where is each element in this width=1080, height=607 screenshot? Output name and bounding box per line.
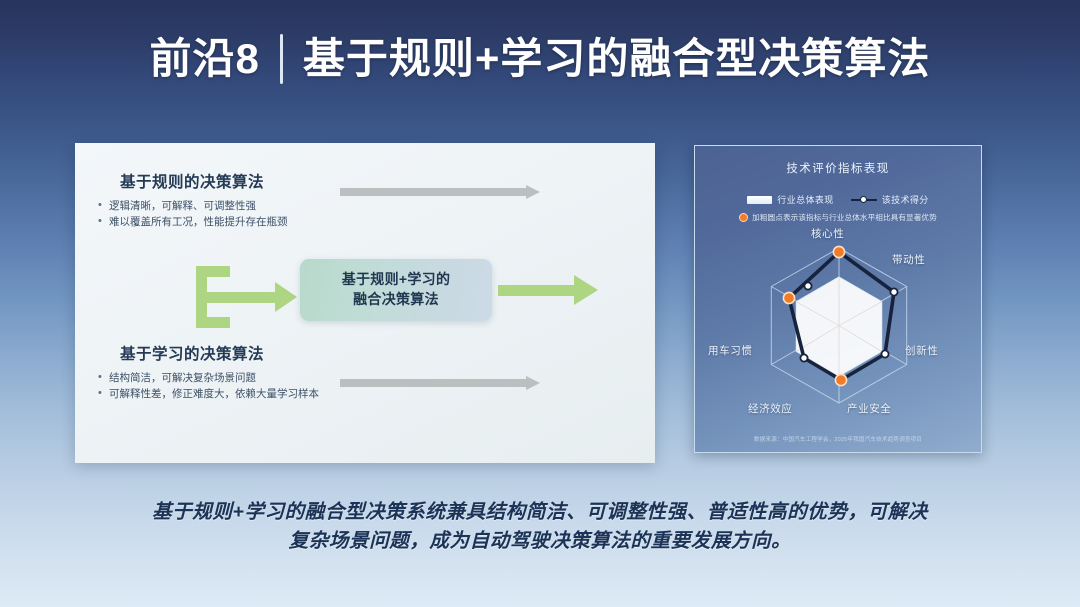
axis-label-safety: 产业安全 (847, 401, 891, 416)
arrow-head (526, 376, 540, 390)
list-item: 逻辑清晰，可解释、可调整性强 (96, 198, 346, 214)
arrow-head (526, 185, 540, 199)
axis-label-economy: 经济效应 (748, 401, 792, 416)
data-point (881, 350, 888, 357)
title-main: 基于规则+学习的融合型决策算法 (303, 38, 931, 80)
radar-legend: 行业总体表现 该技术得分 (695, 193, 981, 206)
axis-label-innovation: 创新性 (905, 343, 938, 358)
axis-label-core: 核心性 (811, 226, 844, 241)
output-arrow-icon (498, 275, 603, 305)
list-item: 可解释性差，修正难度大，依赖大量学习样本 (96, 386, 346, 402)
radar-chart-graphic (709, 234, 969, 419)
page-title: 前沿8 基于规则+学习的融合型决策算法 (0, 34, 1080, 84)
radar-annotation: 加粗圆点表示该指标与行业总体水平相比具有显著优势 (695, 212, 981, 223)
legend-item-technology: 该技术得分 (851, 193, 929, 206)
data-point-highlight (835, 374, 846, 385)
radar-annotation-text: 加粗圆点表示该指标与行业总体水平相比具有显著优势 (752, 212, 937, 223)
merge-fork-arrow-icon (196, 266, 301, 328)
title-prefix: 前沿8 (150, 38, 260, 80)
list-item: 结构简洁，可解决复杂场景问题 (96, 370, 346, 386)
legend-label: 行业总体表现 (777, 193, 833, 206)
list-item: 难以覆盖所有工况，性能提升存在瓶颈 (96, 214, 346, 230)
highlight-dot-icon (739, 213, 748, 222)
learn-flow-arrow-icon (340, 376, 540, 390)
fork-top-branch (196, 266, 230, 277)
title-divider (280, 34, 283, 84)
data-point (800, 354, 807, 361)
rule-flow-arrow-icon (340, 185, 540, 199)
summary-caption: 基于规则+学习的融合型决策系统兼具结构简洁、可调整性强、普适性高的优势，可解决 … (60, 498, 1020, 557)
rule-block-bullets: 逻辑清晰，可解释、可调整性强 难以覆盖所有工况，性能提升存在瓶颈 (96, 198, 346, 231)
legend-item-industry: 行业总体表现 (747, 193, 833, 206)
rule-block-title: 基于规则的决策算法 (120, 170, 264, 192)
arrow-shaft (340, 379, 527, 387)
radar-chart-panel: 技术评价指标表现 行业总体表现 该技术得分 加粗圆点表示该指标与行业总体水平相比… (694, 145, 982, 453)
data-point-highlight (783, 292, 794, 303)
fusion-box-line2: 融合决策算法 (353, 290, 439, 310)
caption-line2: 复杂场景问题，成为自动驾驶决策算法的重要发展方向。 (60, 527, 1020, 556)
data-point (890, 288, 897, 295)
axis-label-driving: 带动性 (892, 252, 925, 267)
arrow-shaft (498, 285, 576, 296)
arrow-shaft (340, 188, 527, 196)
learn-block-title: 基于学习的决策算法 (120, 342, 264, 364)
arrow-head (574, 275, 598, 305)
fusion-box-line1: 基于规则+学习的 (342, 270, 451, 290)
legend-filled-rect-icon (747, 196, 772, 204)
fork-bottom-branch (196, 317, 230, 328)
axis-label-usage: 用车习惯 (708, 343, 752, 358)
legend-line-dot-icon (851, 196, 877, 204)
data-point-highlight (833, 246, 844, 257)
caption-line1: 基于规则+学习的融合型决策系统兼具结构简洁、可调整性强、普适性高的优势，可解决 (60, 498, 1020, 527)
legend-label: 该技术得分 (882, 193, 929, 206)
fork-stem (196, 292, 276, 303)
radar-source-note: 数据来源：中国汽车工程学会，2025年我国汽车技术趋势调查项目 (695, 435, 981, 443)
radar-chart-title: 技术评价指标表现 (695, 160, 981, 176)
learn-block-bullets: 结构简洁，可解决复杂场景问题 可解释性差，修正难度大，依赖大量学习样本 (96, 370, 346, 403)
fork-arrow-head (275, 282, 297, 312)
data-point (804, 282, 811, 289)
fusion-algorithm-box: 基于规则+学习的 融合决策算法 (300, 259, 492, 321)
